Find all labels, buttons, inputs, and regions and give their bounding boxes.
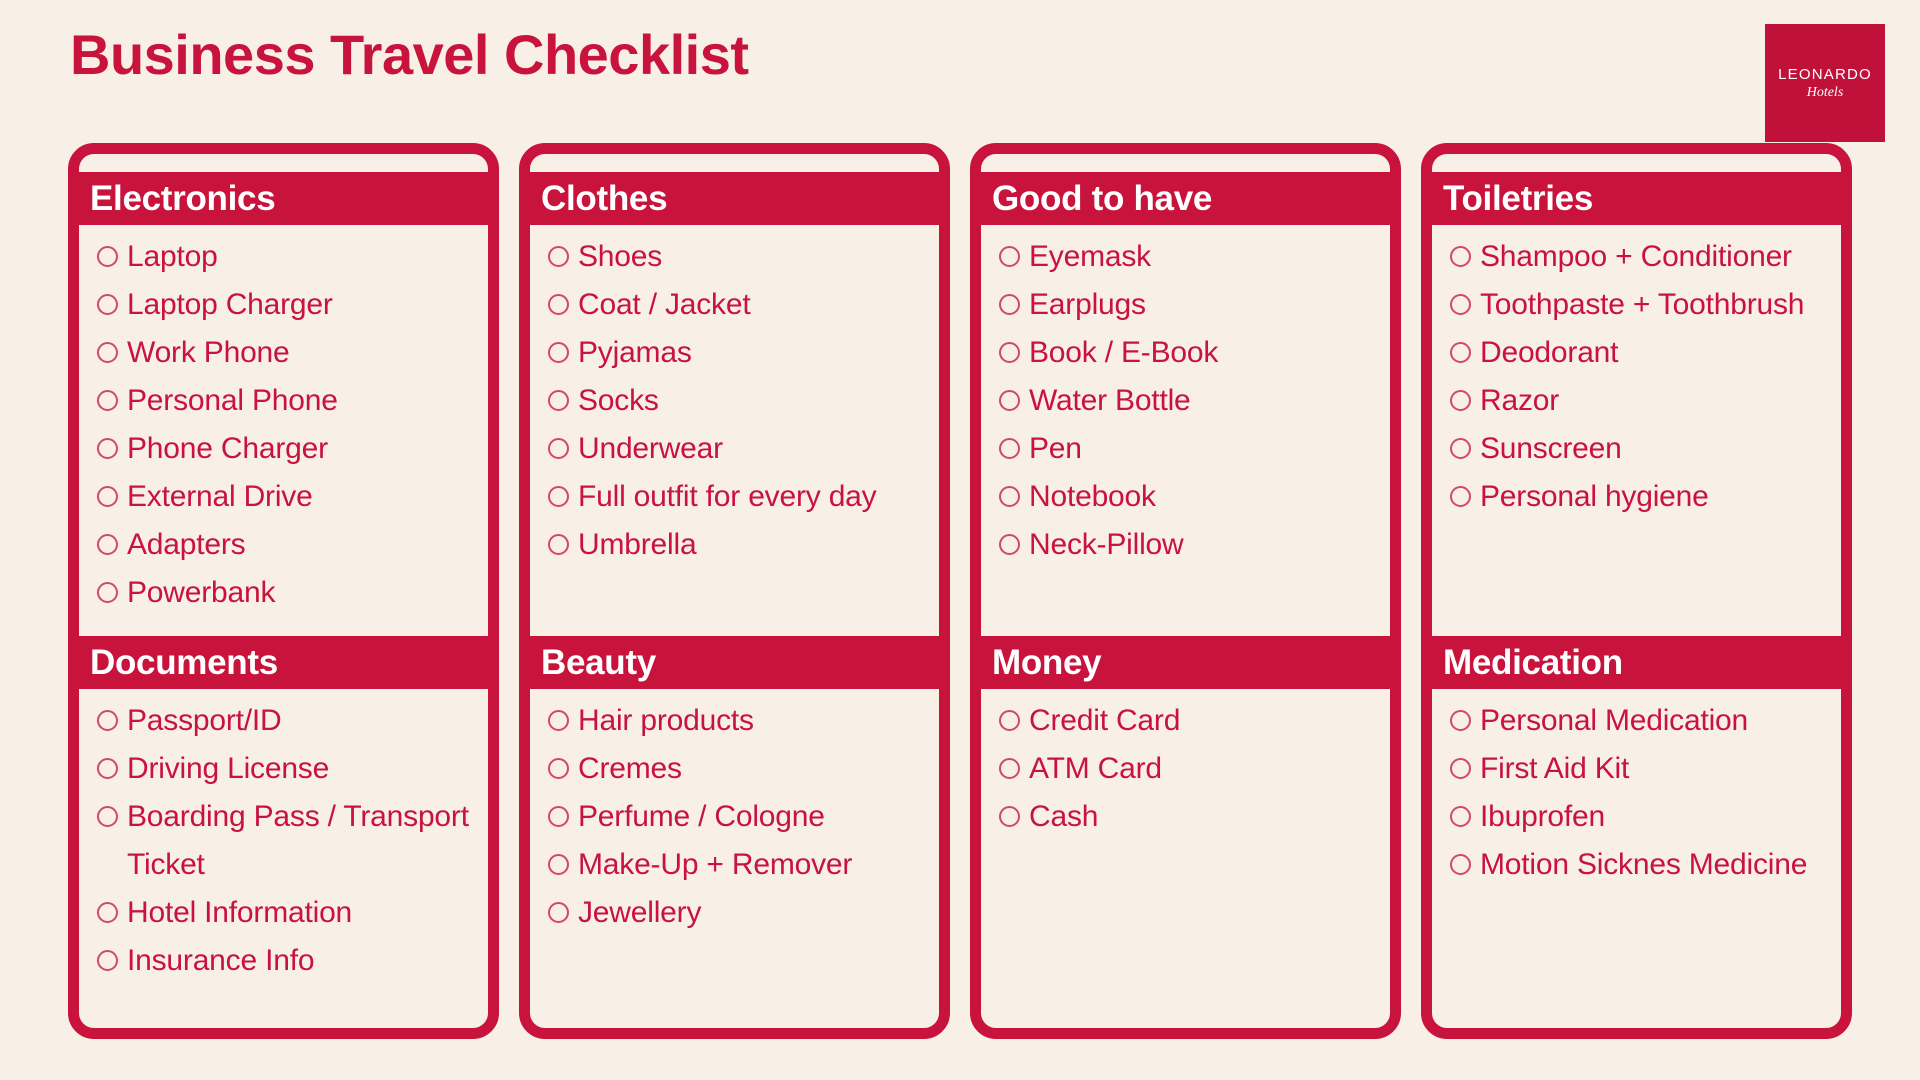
checkbox-circle-icon[interactable] [999, 486, 1020, 507]
section-header: Beauty [519, 636, 950, 689]
checklist-item[interactable]: ATM Card [999, 745, 1380, 793]
checklist-item-label: Underwear [578, 425, 929, 473]
checklist-item-label: Hair products [578, 697, 929, 745]
checklist-item-label: Adapters [127, 521, 478, 569]
checklist-item[interactable]: Perfume / Cologne [548, 793, 929, 841]
checklist-item-label: Make-Up + Remover [578, 841, 929, 889]
checkbox-circle-icon[interactable] [1450, 438, 1471, 459]
checklist-item[interactable]: Cremes [548, 745, 929, 793]
checklist-item[interactable]: Shoes [548, 233, 929, 281]
checklist-item[interactable]: Hair products [548, 697, 929, 745]
checklist-item[interactable]: Laptop [97, 233, 478, 281]
leonardo-hotels-logo: LEONARDO Hotels [1765, 24, 1885, 142]
checklist-item[interactable]: Laptop Charger [97, 281, 478, 329]
checkbox-circle-icon[interactable] [548, 710, 569, 731]
checklist-column: ClothesShoesCoat / JacketPyjamasSocksUnd… [519, 143, 950, 1039]
checklist-item-label: Toothpaste + Toothbrush [1480, 281, 1831, 329]
checklist-items: Passport/IDDriving LicenseBoarding Pass … [79, 689, 488, 985]
checklist-item[interactable]: Jewellery [548, 889, 929, 937]
checkbox-circle-icon[interactable] [97, 390, 118, 411]
checklist-item-label: Boarding Pass / Transport Ticket [127, 793, 478, 889]
checklist-item[interactable]: Hotel Information [97, 889, 478, 937]
checkbox-circle-icon[interactable] [97, 294, 118, 315]
checklist-item-label: Socks [578, 377, 929, 425]
checklist-item-label: Personal Phone [127, 377, 478, 425]
checklist-items: Shampoo + ConditionerToothpaste + Toothb… [1432, 225, 1841, 521]
checklist-columns: ElectronicsLaptopLaptop ChargerWork Phon… [68, 143, 1852, 1039]
checklist-item-label: Notebook [1029, 473, 1380, 521]
checkbox-circle-icon[interactable] [999, 294, 1020, 315]
checklist-item[interactable]: Pen [999, 425, 1380, 473]
checklist-item[interactable]: Make-Up + Remover [548, 841, 929, 889]
checklist-column: ElectronicsLaptopLaptop ChargerWork Phon… [68, 143, 499, 1039]
checklist-item[interactable]: First Aid Kit [1450, 745, 1831, 793]
checkbox-circle-icon[interactable] [548, 438, 569, 459]
checklist-item-label: ATM Card [1029, 745, 1380, 793]
checklist-item[interactable]: Eyemask [999, 233, 1380, 281]
checklist-section: ClothesShoesCoat / JacketPyjamasSocksUnd… [530, 154, 939, 628]
checklist-section: MedicationPersonal MedicationFirst Aid K… [1432, 628, 1841, 1028]
checklist-item[interactable]: Umbrella [548, 521, 929, 569]
checklist-item-label: Eyemask [1029, 233, 1380, 281]
checkbox-circle-icon[interactable] [999, 710, 1020, 731]
checklist-item-label: Umbrella [578, 521, 929, 569]
checkbox-circle-icon[interactable] [548, 246, 569, 267]
checklist-item-label: Razor [1480, 377, 1831, 425]
checkbox-circle-icon[interactable] [97, 246, 118, 267]
checkbox-circle-icon[interactable] [548, 854, 569, 875]
checklist-item[interactable]: Personal hygiene [1450, 473, 1831, 521]
checkbox-circle-icon[interactable] [97, 710, 118, 731]
checklist-item[interactable]: Sunscreen [1450, 425, 1831, 473]
checklist-item[interactable]: Pyjamas [548, 329, 929, 377]
checklist-item[interactable]: Full outfit for every day [548, 473, 929, 521]
checkbox-circle-icon[interactable] [548, 806, 569, 827]
checkbox-circle-icon[interactable] [999, 758, 1020, 779]
checklist-item[interactable]: Ibuprofen [1450, 793, 1831, 841]
checkbox-circle-icon[interactable] [1450, 806, 1471, 827]
checklist-item-label: Book / E-Book [1029, 329, 1380, 377]
checklist-item-label: Jewellery [578, 889, 929, 937]
checklist-item-label: Driving License [127, 745, 478, 793]
checkbox-circle-icon[interactable] [97, 582, 118, 603]
checklist-items: Hair productsCremesPerfume / CologneMake… [530, 689, 939, 937]
checklist-column: Good to haveEyemaskEarplugsBook / E-Book… [970, 143, 1401, 1039]
checklist-item-label: Laptop [127, 233, 478, 281]
checklist-section: MoneyCredit CardATM CardCash [981, 628, 1390, 1028]
checklist-item-label: Neck-Pillow [1029, 521, 1380, 569]
checkbox-circle-icon[interactable] [97, 486, 118, 507]
checkbox-circle-icon[interactable] [97, 902, 118, 923]
checklist-item-label: Shampoo + Conditioner [1480, 233, 1831, 281]
checklist-item[interactable]: Powerbank [97, 569, 478, 617]
checklist-item-label: Coat / Jacket [578, 281, 929, 329]
checklist-item-label: Ibuprofen [1480, 793, 1831, 841]
logo-brand-name: LEONARDO [1778, 67, 1872, 82]
checkbox-circle-icon[interactable] [548, 758, 569, 779]
checkbox-circle-icon[interactable] [1450, 342, 1471, 363]
checkbox-circle-icon[interactable] [97, 758, 118, 779]
section-header: Documents [68, 636, 499, 689]
page-title: Business Travel Checklist [70, 24, 749, 86]
section-header: Money [970, 636, 1401, 689]
checklist-section: ElectronicsLaptopLaptop ChargerWork Phon… [79, 154, 488, 628]
checkbox-circle-icon[interactable] [97, 806, 118, 827]
checklist-item-label: Insurance Info [127, 937, 478, 985]
checklist-item[interactable]: Razor [1450, 377, 1831, 425]
checklist-item-label: Full outfit for every day [578, 473, 929, 521]
checklist-item[interactable]: Credit Card [999, 697, 1380, 745]
checkbox-circle-icon[interactable] [548, 486, 569, 507]
checklist-item[interactable]: Socks [548, 377, 929, 425]
checklist-item-label: Powerbank [127, 569, 478, 617]
checklist-section: BeautyHair productsCremesPerfume / Colog… [530, 628, 939, 1028]
checkbox-circle-icon[interactable] [999, 806, 1020, 827]
checklist-item-label: Perfume / Cologne [578, 793, 929, 841]
checklist-items: ShoesCoat / JacketPyjamasSocksUnderwearF… [530, 225, 939, 569]
checkbox-circle-icon[interactable] [1450, 486, 1471, 507]
checkbox-circle-icon[interactable] [548, 390, 569, 411]
checklist-item[interactable]: Underwear [548, 425, 929, 473]
checklist-item[interactable]: Insurance Info [97, 937, 478, 985]
checklist-item[interactable]: Boarding Pass / Transport Ticket [97, 793, 478, 889]
checkbox-circle-icon[interactable] [548, 902, 569, 923]
section-header: Medication [1421, 636, 1852, 689]
checklist-item-label: First Aid Kit [1480, 745, 1831, 793]
checklist-items: Credit CardATM CardCash [981, 689, 1390, 841]
checklist-column: ToiletriesShampoo + ConditionerToothpast… [1421, 143, 1852, 1039]
checklist-item[interactable]: Personal Phone [97, 377, 478, 425]
checklist-item-label: Shoes [578, 233, 929, 281]
checklist-item[interactable]: Deodorant [1450, 329, 1831, 377]
checkbox-circle-icon[interactable] [97, 342, 118, 363]
checklist-item-label: Phone Charger [127, 425, 478, 473]
checklist-section: ToiletriesShampoo + ConditionerToothpast… [1432, 154, 1841, 628]
checkbox-circle-icon[interactable] [999, 534, 1020, 555]
checklist-item-label: Sunscreen [1480, 425, 1831, 473]
checkbox-circle-icon[interactable] [1450, 758, 1471, 779]
checklist-item-label: Passport/ID [127, 697, 478, 745]
checklist-item[interactable]: Notebook [999, 473, 1380, 521]
checkbox-circle-icon[interactable] [1450, 854, 1471, 875]
checklist-item[interactable]: Cash [999, 793, 1380, 841]
checkbox-circle-icon[interactable] [548, 294, 569, 315]
section-header: Toiletries [1421, 172, 1852, 225]
checklist-item[interactable]: Water Bottle [999, 377, 1380, 425]
checklist-items: LaptopLaptop ChargerWork PhonePersonal P… [79, 225, 488, 617]
checkbox-circle-icon[interactable] [1450, 390, 1471, 411]
checklist-item-label: Laptop Charger [127, 281, 478, 329]
checklist-item[interactable]: Motion Sicknes Medicine [1450, 841, 1831, 889]
checklist-item-label: Earplugs [1029, 281, 1380, 329]
checklist-item-label: Pyjamas [578, 329, 929, 377]
checklist-section: Good to haveEyemaskEarplugsBook / E-Book… [981, 154, 1390, 628]
checklist-item[interactable]: Passport/ID [97, 697, 478, 745]
checkbox-circle-icon[interactable] [999, 342, 1020, 363]
checkbox-circle-icon[interactable] [97, 534, 118, 555]
checklist-item-label: Cash [1029, 793, 1380, 841]
checkbox-circle-icon[interactable] [97, 438, 118, 459]
checkbox-circle-icon[interactable] [1450, 294, 1471, 315]
checklist-item-label: Personal hygiene [1480, 473, 1831, 521]
checkbox-circle-icon[interactable] [1450, 246, 1471, 267]
checklist-items: Personal MedicationFirst Aid KitIbuprofe… [1432, 689, 1841, 889]
checklist-item[interactable]: Coat / Jacket [548, 281, 929, 329]
checklist-item[interactable]: Phone Charger [97, 425, 478, 473]
logo-tagline: Hotels [1807, 86, 1844, 100]
checklist-item[interactable]: Personal Medication [1450, 697, 1831, 745]
checklist-item-label: Personal Medication [1480, 697, 1831, 745]
section-header: Electronics [68, 172, 499, 225]
checklist-item-label: Motion Sicknes Medicine [1480, 841, 1831, 889]
checklist-item[interactable]: Toothpaste + Toothbrush [1450, 281, 1831, 329]
checklist-item-label: Cremes [578, 745, 929, 793]
checkbox-circle-icon[interactable] [999, 246, 1020, 267]
checklist-item[interactable]: Shampoo + Conditioner [1450, 233, 1831, 281]
checklist-item-label: Water Bottle [1029, 377, 1380, 425]
checkbox-circle-icon[interactable] [97, 950, 118, 971]
checklist-items: EyemaskEarplugsBook / E-BookWater Bottle… [981, 225, 1390, 569]
section-header: Good to have [970, 172, 1401, 225]
checklist-item-label: Pen [1029, 425, 1380, 473]
checklist-item[interactable]: Neck-Pillow [999, 521, 1380, 569]
checklist-item-label: Credit Card [1029, 697, 1380, 745]
checkbox-circle-icon[interactable] [999, 390, 1020, 411]
checklist-item[interactable]: Book / E-Book [999, 329, 1380, 377]
checkbox-circle-icon[interactable] [548, 342, 569, 363]
checkbox-circle-icon[interactable] [548, 534, 569, 555]
checklist-item[interactable]: Adapters [97, 521, 478, 569]
checklist-item[interactable]: Earplugs [999, 281, 1380, 329]
checkbox-circle-icon[interactable] [999, 438, 1020, 459]
checkbox-circle-icon[interactable] [1450, 710, 1471, 731]
checklist-item-label: External Drive [127, 473, 478, 521]
checklist-item-label: Hotel Information [127, 889, 478, 937]
checklist-item-label: Deodorant [1480, 329, 1831, 377]
checklist-item[interactable]: Work Phone [97, 329, 478, 377]
checklist-section: DocumentsPassport/IDDriving LicenseBoard… [79, 628, 488, 1028]
checklist-item[interactable]: Driving License [97, 745, 478, 793]
page-header: Business Travel Checklist LEONARDO Hotel… [0, 0, 1920, 140]
checklist-item[interactable]: External Drive [97, 473, 478, 521]
section-header: Clothes [519, 172, 950, 225]
checklist-item-label: Work Phone [127, 329, 478, 377]
